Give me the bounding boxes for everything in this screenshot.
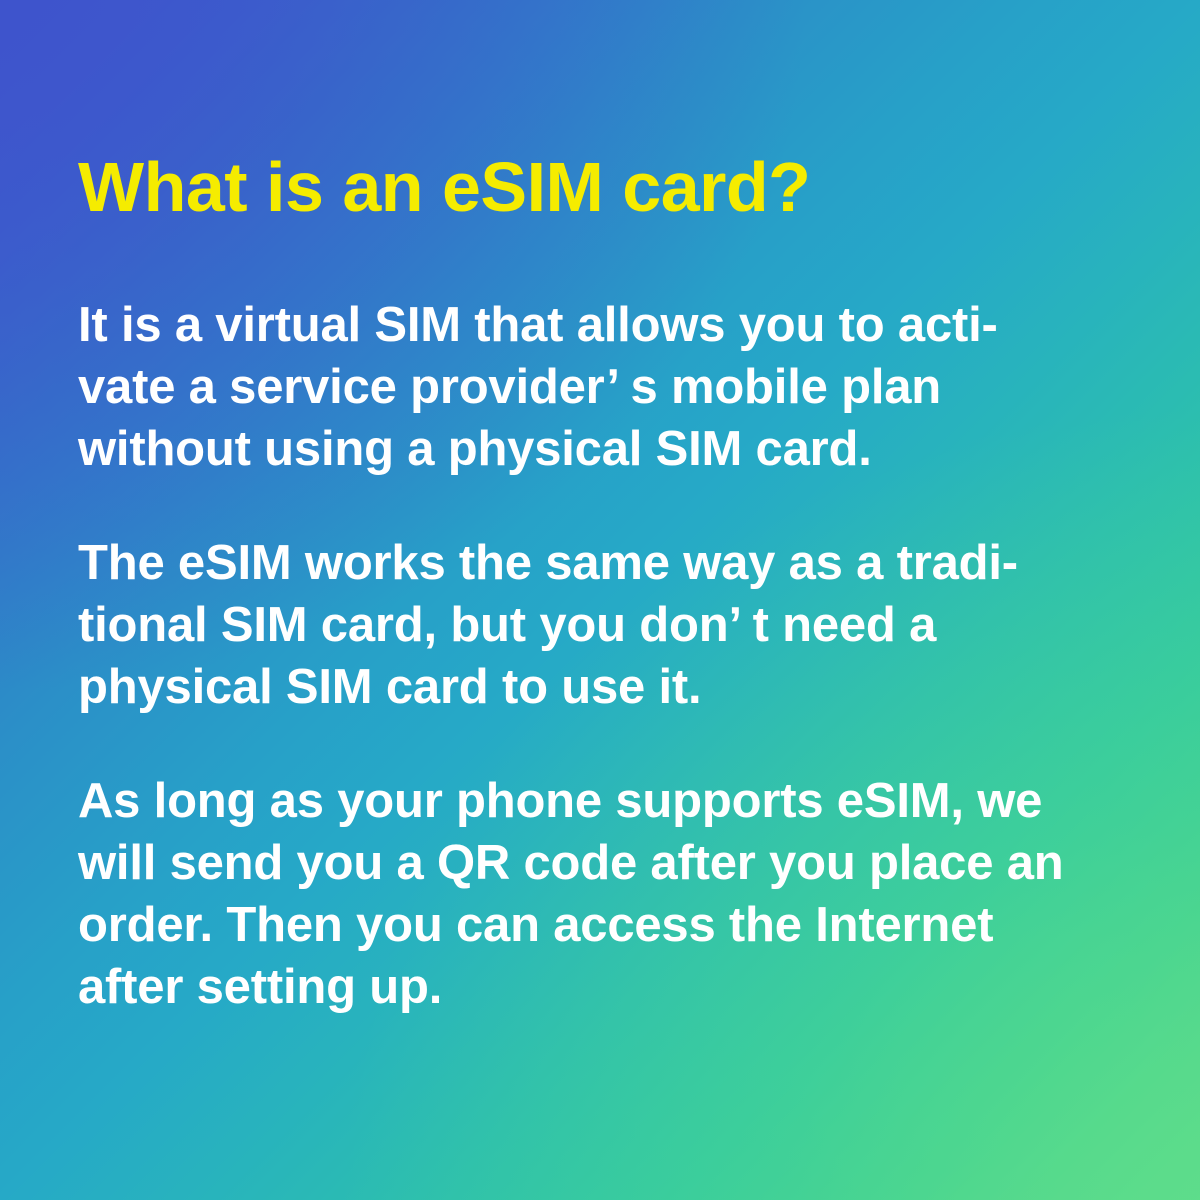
paragraph-qr-code-delivery: As long as your phone supports eSIM, we …: [78, 770, 1043, 1018]
paragraph-line: As long as your phone supports eSIM, we: [78, 770, 1043, 832]
esim-info-card: What is an eSIM card? It is a virtual SI…: [0, 0, 1200, 1200]
paragraph-line: without using a physical SIM card.: [78, 418, 1043, 480]
paragraph-what-is-esim: It is a virtual SIM that allows you to a…: [78, 294, 1043, 480]
paragraph-line: tional SIM card, but you don’ t need a: [78, 594, 1043, 656]
body-text-block: It is a virtual SIM that allows you to a…: [78, 294, 1043, 1018]
paragraph-line: vate a service provider’ s mobile plan: [78, 356, 1043, 418]
paragraph-line: will send you a QR code after you place …: [78, 832, 1043, 894]
page-title: What is an eSIM card?: [78, 148, 810, 226]
paragraph-line: after setting up.: [78, 956, 1043, 1018]
paragraph-line: order. Then you can access the Internet: [78, 894, 1043, 956]
paragraph-line: The eSIM works the same way as a tradi-: [78, 532, 1043, 594]
paragraph-line: physical SIM card to use it.: [78, 656, 1043, 718]
paragraph-line: It is a virtual SIM that allows you to a…: [78, 294, 1043, 356]
paragraph-how-esim-works: The eSIM works the same way as a tradi- …: [78, 532, 1043, 718]
